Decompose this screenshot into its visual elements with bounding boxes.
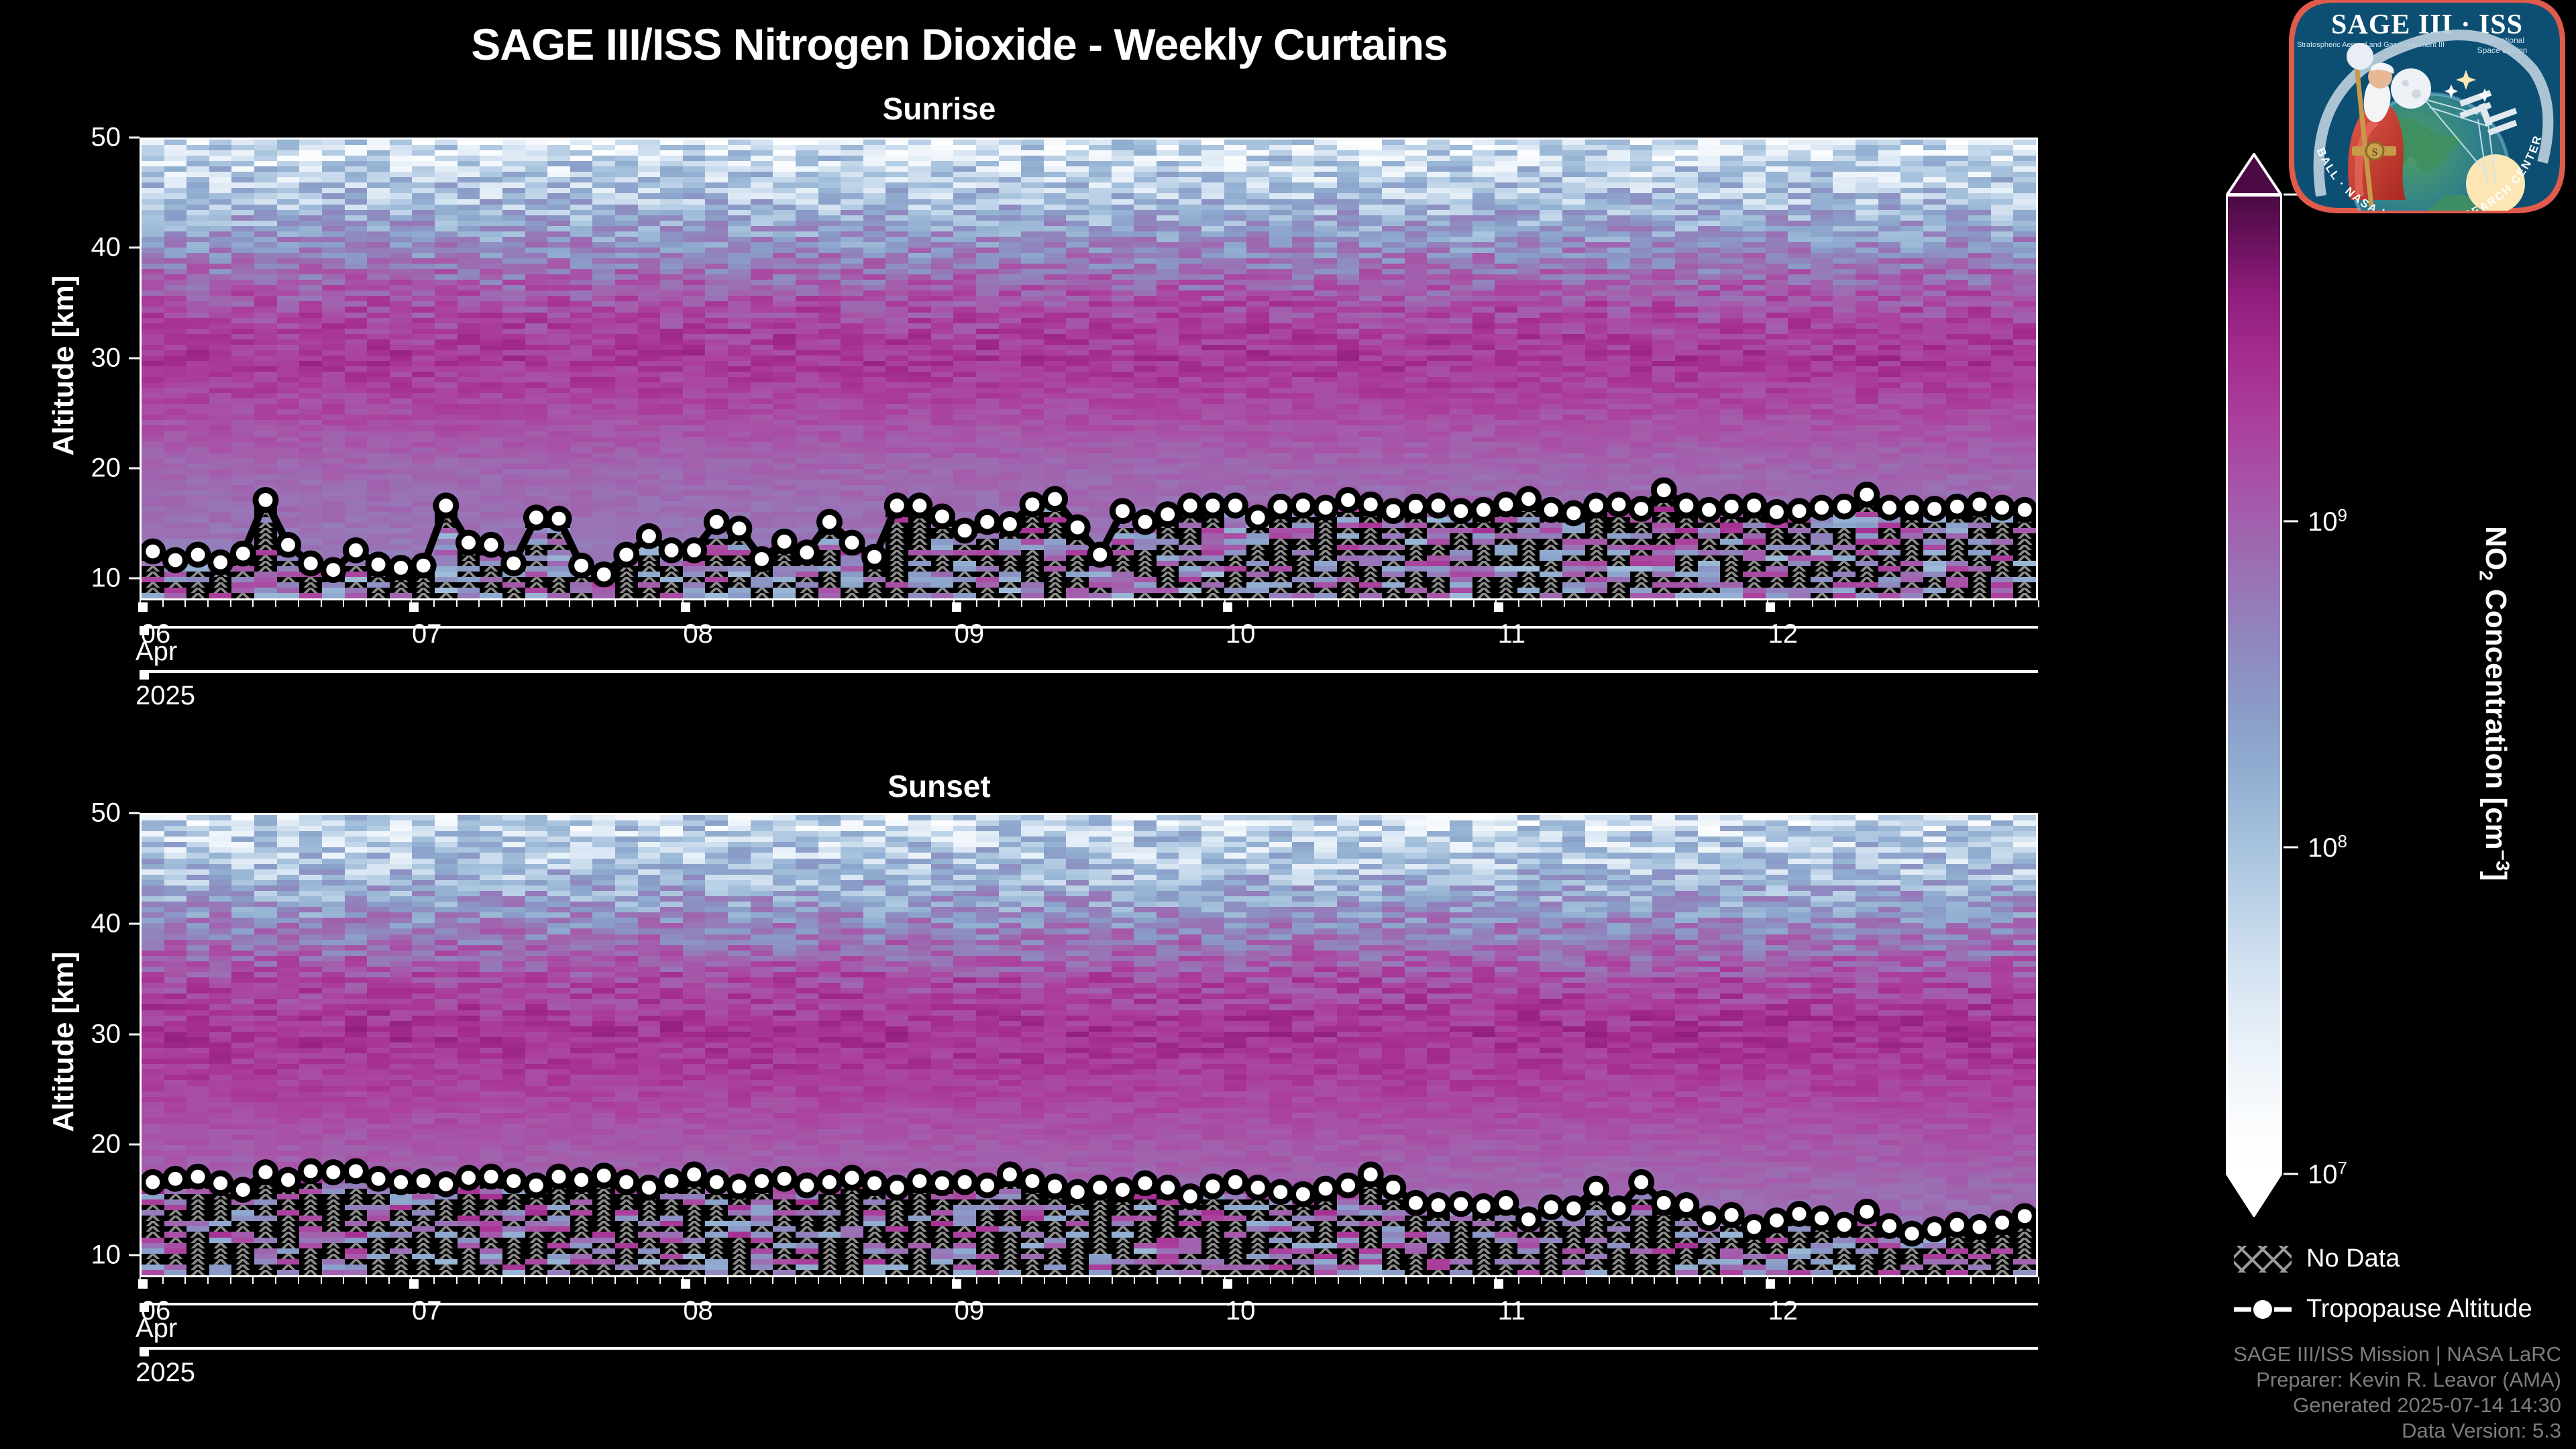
heatmap-cell [1900,431,1923,437]
heatmap-cell [1224,447,1247,453]
heatmap-cell [705,372,728,377]
heatmap-cell [976,290,999,296]
heatmap-cell [1607,177,1630,182]
heatmap-cell [412,253,435,258]
heatmap-cell [458,215,480,221]
heatmap-cell [1811,161,1833,166]
heatmap-cell [1630,226,1653,231]
heatmap-cell [525,177,548,182]
heatmap-cell [1607,150,1630,156]
heatmap-cell [1495,313,1517,318]
heatmap-cell [1292,409,1315,415]
heatmap-cell [728,366,751,372]
heatmap-cell [1179,318,1201,323]
heatmap-cell [435,242,458,248]
heatmap-cell [1201,313,1224,318]
heatmap-cell [1450,307,1472,312]
heatmap-cell [1788,156,1811,161]
heatmap-cell [1089,177,1112,182]
heatmap-cell [1878,425,1901,431]
heatmap-cell [1450,231,1472,237]
heatmap-cell [502,140,525,145]
heatmap-cell [186,264,209,269]
heatmap-cell [1562,210,1585,215]
heatmap-cell [480,199,502,205]
heatmap-cell [1675,415,1698,420]
heatmap-cell [1337,280,1360,285]
heatmap-cell [209,339,232,345]
heatmap-cell [1562,156,1585,161]
heatmap-cell [818,453,841,458]
heatmap-cell [1607,269,1630,274]
heatmap-cell [1201,301,1224,307]
heatmap-cell [1878,313,1901,318]
heatmap-cell [1900,237,1923,242]
heatmap-cell [1359,447,1382,453]
heatmap-cell [1157,372,1179,377]
heatmap-cell [1720,150,1743,156]
heatmap-cell [1630,382,1653,388]
heatmap-cell [1382,431,1405,437]
heatmap-cell [1540,177,1562,182]
heatmap-cell [931,172,954,177]
heatmap-cell [1134,431,1157,437]
heatmap-cell [164,420,187,425]
heatmap-cell [1811,431,1833,437]
heatmap-cell [1562,221,1585,226]
heatmap-cell [299,404,322,409]
heatmap-cell [502,290,525,296]
heatmap-cell [592,258,615,264]
heatmap-cell [1292,231,1315,237]
heatmap-cell [1630,205,1653,210]
heatmap-cell [751,409,773,415]
heatmap-cell [1630,156,1653,161]
heatmap-cell [254,150,277,156]
heatmap-cell [209,199,232,205]
heatmap-cell [1021,388,1044,393]
heatmap-cell [435,231,458,237]
heatmap-cell [164,437,187,442]
heatmap-cell [1968,296,1991,301]
heatmap-cell [1562,188,1585,193]
heatmap-cell [1720,307,1743,312]
heatmap-cell [976,231,999,237]
heatmap-cell [1675,350,1698,356]
heatmap-cell [1766,409,1788,415]
heatmap-cell [728,431,751,437]
heatmap-cell [1472,361,1495,366]
heatmap-cell [976,420,999,425]
heatmap-cell [1179,156,1201,161]
heatmap-cell [277,339,300,345]
heatmap-cell [142,361,164,366]
heatmap-cell [1337,334,1360,339]
heatmap-cell [1698,382,1721,388]
heatmap-cell [1946,177,1969,182]
heatmap-cell [1157,199,1179,205]
heatmap-cell [142,242,164,248]
heatmap-cell [142,415,164,420]
heatmap-cell [1968,361,1991,366]
heatmap-cell [1607,221,1630,226]
heatmap-cell [1517,420,1540,425]
heatmap-cell [277,318,300,323]
heatmap-cell [1292,145,1315,150]
heatmap-cell [1201,205,1224,210]
heatmap-cell [638,182,661,188]
heatmap-cell [1337,409,1360,415]
heatmap-cell [751,150,773,156]
heatmap-cell [705,193,728,199]
heatmap-cell [1472,161,1495,166]
heatmap-cell [1607,393,1630,398]
heatmap-cell [1382,329,1405,334]
heatmap-cell [796,285,818,290]
heatmap-cell [1269,280,1292,285]
heatmap-cell [1179,150,1201,156]
heatmap-cell [1134,161,1157,166]
heatmap-cell [390,264,413,269]
heatmap-cell [1427,296,1450,301]
heatmap-cell [458,166,480,172]
heatmap-cell [1743,318,1766,323]
heatmap-cell [773,182,796,188]
heatmap-cell [1562,307,1585,312]
heatmap-cell [638,301,661,307]
heatmap-cell [299,372,322,377]
heatmap-cell [254,296,277,301]
heatmap-cell [818,274,841,280]
heatmap-cell [908,372,931,377]
heatmap-cell [1766,145,1788,150]
heatmap-cell [525,188,548,193]
heatmap-cell [1044,161,1067,166]
heatmap-cell [1517,366,1540,372]
heatmap-cell [209,307,232,312]
heatmap-cell [1517,210,1540,215]
heatmap-cell [277,404,300,409]
heatmap-cell [592,274,615,280]
heatmap-cell [638,398,661,404]
heatmap-cell [254,285,277,290]
heatmap-cell [1607,356,1630,361]
heatmap-cell [751,156,773,161]
heatmap-cell [164,323,187,329]
heatmap-cell [976,372,999,377]
heatmap-cell [1201,248,1224,253]
heatmap-cell [683,447,706,453]
heatmap-cell [705,205,728,210]
heatmap-cell [1224,140,1247,145]
heatmap-cell [1269,388,1292,393]
heatmap-cell [1766,442,1788,447]
heatmap-cell [1720,161,1743,166]
heatmap-cell [1472,372,1495,377]
heatmap-cell [1179,431,1201,437]
heatmap-cell [1856,253,1878,258]
heatmap-cell [1044,269,1067,274]
heatmap-cell [1607,313,1630,318]
heatmap-cell [908,377,931,382]
heatmap-cell [1743,420,1766,425]
heatmap-cell [164,172,187,177]
heatmap-cell [1427,334,1450,339]
heatmap-cell [1743,188,1766,193]
heatmap-cell [773,388,796,393]
heatmap-cell [1021,323,1044,329]
heatmap-cell [345,431,368,437]
heatmap-cell [1021,172,1044,177]
heatmap-cell [1201,442,1224,447]
heatmap-cell [863,361,886,366]
heatmap-cell [186,345,209,350]
heatmap-cell [751,334,773,339]
heatmap-cell [705,345,728,350]
heatmap-cell [818,145,841,150]
heatmap-cell [367,145,390,150]
heatmap-cell [1968,398,1991,404]
heatmap-cell [705,356,728,361]
heatmap-cell [1472,409,1495,415]
heatmap-cell [1675,199,1698,205]
heatmap-cell [638,177,661,182]
heatmap-cell [1405,237,1428,242]
heatmap-cell [1720,388,1743,393]
heatmap-cell [209,356,232,361]
heatmap-cell [1788,323,1811,329]
heatmap-cell [390,415,413,420]
heatmap-cell [976,356,999,361]
heatmap-cell [480,193,502,199]
heatmap-cell [480,334,502,339]
heatmap-cell [1766,393,1788,398]
heatmap-cell [1450,366,1472,372]
heatmap-cell [547,345,570,350]
heatmap-cell [1269,318,1292,323]
heatmap-cell [615,258,638,264]
heatmap-cell [164,290,187,296]
heatmap-cell [1811,398,1833,404]
heatmap-cell [638,345,661,350]
heatmap-cell [1900,361,1923,366]
heatmap-cell [322,242,345,248]
heatmap-cell [1630,301,1653,307]
heatmap-cell [1112,313,1134,318]
heatmap-cell [570,269,593,274]
heatmap-cell [1359,172,1382,177]
heatmap-cell [818,409,841,415]
heatmap-cell [1450,269,1472,274]
heatmap-cell [592,199,615,205]
heatmap-cell [1856,334,1878,339]
heatmap-cell [345,377,368,382]
heatmap-cell [1405,301,1428,307]
heatmap-cell [1698,329,1721,334]
heatmap-cell [299,290,322,296]
heatmap-cell [458,193,480,199]
heatmap-cell [1292,258,1315,264]
heatmap-cell [1946,221,1969,226]
heatmap-cell [502,280,525,285]
heatmap-cell [1652,372,1675,377]
heatmap-cell [435,313,458,318]
heatmap-cell [953,161,976,166]
heatmap-cell [999,420,1022,425]
heatmap-cell [1021,290,1044,296]
heatmap-cell [953,388,976,393]
heatmap-cell [164,274,187,280]
heatmap-cell [1382,269,1405,274]
heatmap-cell [480,329,502,334]
heatmap-cell [1698,290,1721,296]
heatmap-cell [502,437,525,442]
heatmap-cell [1201,161,1224,166]
heatmap-cell [592,372,615,377]
heatmap-cell [1968,237,1991,242]
heatmap-cell [1405,361,1428,366]
heatmap-cell [1562,404,1585,409]
heatmap-cell [592,442,615,447]
heatmap-cell [277,447,300,453]
heatmap-cell [1720,253,1743,258]
heatmap-cell [164,366,187,372]
heatmap-cell [345,237,368,242]
heatmap-cell [231,248,254,253]
heatmap-cell [345,140,368,145]
heatmap-cell [1157,453,1179,458]
heatmap-cell [1044,447,1067,453]
heatmap-cell [367,442,390,447]
heatmap-cell [1968,350,1991,356]
heatmap-cell [1201,350,1224,356]
heatmap-cell [683,280,706,285]
heatmap-cell [773,313,796,318]
heatmap-cell [345,339,368,345]
heatmap-cell [458,253,480,258]
heatmap-cell [254,188,277,193]
heatmap-cell [705,442,728,447]
heatmap-cell [592,425,615,431]
heatmap-cell [1900,296,1923,301]
heatmap-cell [1743,205,1766,210]
heatmap-cell [1314,290,1337,296]
heatmap-cell [367,372,390,377]
heatmap-cell [1833,193,1856,199]
heatmap-cell [1359,329,1382,334]
heatmap-cell [1044,290,1067,296]
heatmap-cell [1675,242,1698,248]
heatmap-cell [142,215,164,221]
heatmap-cell [2013,264,2036,269]
heatmap-cell [615,339,638,345]
heatmap-cell [1089,345,1112,350]
heatmap-cell [1698,210,1721,215]
heatmap-cell [615,437,638,442]
heatmap-cell [1201,377,1224,382]
heatmap-cell [705,188,728,193]
heatmap-cell [458,274,480,280]
heatmap-cell [142,237,164,242]
heatmap-cell [1878,161,1901,166]
heatmap-cell [1157,345,1179,350]
heatmap-cell [751,458,773,464]
heatmap-cell [502,356,525,361]
heatmap-cell [1495,237,1517,242]
heatmap-cell [1089,425,1112,431]
heatmap-cell [751,377,773,382]
heatmap-cell [277,205,300,210]
heatmap-cell [638,350,661,356]
heatmap-cell [592,345,615,350]
heatmap-cell [367,350,390,356]
heatmap-cell [345,290,368,296]
heatmap-cell [367,231,390,237]
heatmap-cell [1856,161,1878,166]
heatmap-cell [1246,323,1269,329]
heatmap-cell [908,264,931,269]
heatmap-cell [976,237,999,242]
heatmap-cell [1675,258,1698,264]
heatmap-cell [1517,188,1540,193]
heatmap-cell [908,156,931,161]
heatmap-cell [502,253,525,258]
heatmap-cell [1292,221,1315,226]
heatmap-cell [1179,366,1201,372]
heatmap-cell [299,393,322,398]
heatmap-cell [1044,339,1067,345]
heatmap-cell [1630,145,1653,150]
heatmap-cell [592,221,615,226]
heatmap-cell [1495,166,1517,172]
heatmap-cell [885,313,908,318]
heatmap-cell [1652,409,1675,415]
heatmap-cell [1292,188,1315,193]
heatmap-cell [751,356,773,361]
heatmap-cell [186,382,209,388]
heatmap-cell [1630,280,1653,285]
heatmap-cell [142,453,164,458]
heatmap-cell [1405,313,1428,318]
heatmap-cell [345,404,368,409]
heatmap-cell [1856,193,1878,199]
heatmap-cell [908,366,931,372]
heatmap-cell [751,237,773,242]
heatmap-cell [1382,290,1405,296]
heatmap-cell [1405,393,1428,398]
heatmap-cell [345,242,368,248]
heatmap-cell [412,269,435,274]
heatmap-cell [863,334,886,339]
heatmap-cell [1021,215,1044,221]
heatmap-cell [1652,161,1675,166]
heatmap-cell [1044,420,1067,425]
heatmap-cell [638,356,661,361]
heatmap-cell [1946,210,1969,215]
heatmap-cell [1968,188,1991,193]
heatmap-cell [209,366,232,372]
heatmap-cell [142,307,164,312]
heatmap-cell [1562,274,1585,280]
heatmap-cell [705,290,728,296]
heatmap-cell [1246,442,1269,447]
heatmap-cell [1652,242,1675,248]
heatmap-cell [638,323,661,329]
heatmap-cell [345,199,368,205]
heatmap-cell [277,398,300,404]
heatmap-cell [1112,431,1134,437]
heatmap-cell [1427,393,1450,398]
